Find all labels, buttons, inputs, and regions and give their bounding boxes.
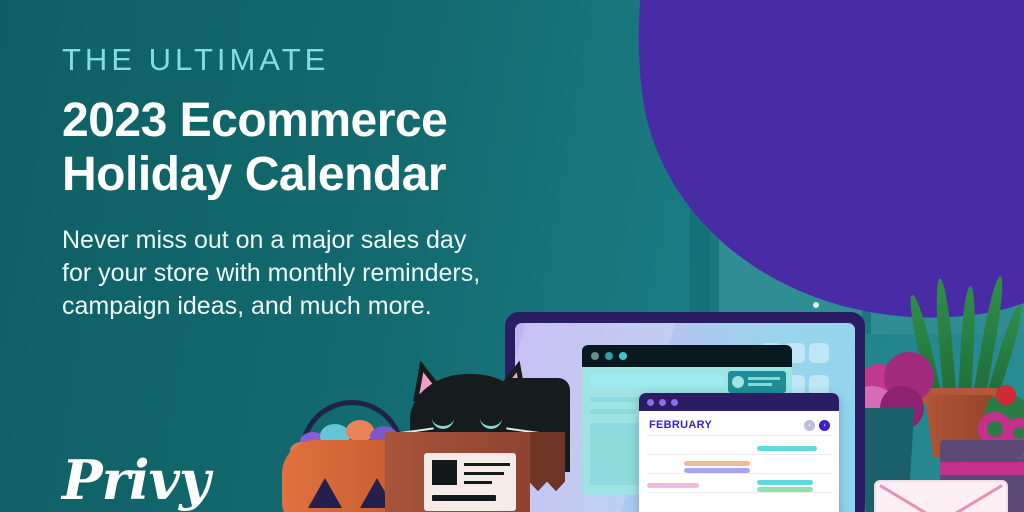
- calendar-cell[interactable]: [721, 455, 758, 473]
- calendar-cell[interactable]: [684, 474, 721, 492]
- window-dot-close[interactable]: [647, 399, 654, 406]
- calendar-cell[interactable]: [647, 474, 684, 492]
- browser-titlebar: [582, 345, 792, 367]
- shipping-label: [424, 453, 516, 511]
- calendar-row: [647, 454, 831, 473]
- barcode-icon: [432, 460, 457, 485]
- calendar-cell[interactable]: [721, 493, 758, 511]
- privy-logo[interactable]: Privy: [62, 448, 209, 512]
- calendar-grid: [639, 435, 839, 511]
- envelope-flap-left: [879, 484, 942, 512]
- promo-banner: ❄ ❄ ❄ ❄ ☆ ☆: [0, 0, 1024, 512]
- window-dot-close: [591, 352, 599, 360]
- calendar-titlebar: [639, 393, 839, 411]
- copy-block: THE ULTIMATE 2023 Ecommerce Holiday Cale…: [62, 0, 582, 323]
- calendar-cell[interactable]: [757, 493, 794, 511]
- calendar-window[interactable]: FEBRUARY ‹ ›: [639, 393, 839, 512]
- snake-plant: [928, 280, 998, 400]
- prev-month-button[interactable]: ‹: [804, 420, 815, 431]
- browser-url-bar[interactable]: [590, 374, 725, 387]
- calendar-cell[interactable]: [721, 474, 758, 492]
- calendar-cell[interactable]: [684, 455, 721, 473]
- cat-eye-left: [432, 418, 454, 429]
- calendar-cell[interactable]: [794, 474, 831, 492]
- calendar-cell[interactable]: [647, 455, 684, 473]
- calendar-cell[interactable]: [757, 455, 794, 473]
- window-dot-minimize[interactable]: [659, 399, 666, 406]
- envelope: [874, 480, 1008, 512]
- calendar-cell[interactable]: [757, 474, 794, 492]
- browser-cta-card[interactable]: [728, 371, 786, 393]
- page-title: 2023 Ecommerce Holiday Calendar: [62, 94, 582, 202]
- calendar-cell[interactable]: [647, 493, 684, 511]
- calendar-row: [647, 435, 831, 454]
- calendar-cell[interactable]: [647, 436, 684, 454]
- envelope-flap-right: [940, 484, 1003, 512]
- cactus-flower: [996, 385, 1016, 405]
- calendar-cell[interactable]: [794, 455, 831, 473]
- headline-line-1: 2023 Ecommerce: [62, 94, 582, 148]
- window-dot-maximize: [619, 352, 627, 360]
- calendar-cell[interactable]: [757, 436, 794, 454]
- window-dot-maximize[interactable]: [671, 399, 678, 406]
- window-dot-minimize: [605, 352, 613, 360]
- subheadline-text: Never miss out on a major sales day for …: [62, 224, 494, 324]
- calendar-row: [647, 473, 831, 492]
- cat-eye-right: [480, 418, 502, 429]
- eyebrow-text: THE ULTIMATE: [62, 42, 582, 78]
- calendar-header: FEBRUARY ‹ ›: [639, 411, 839, 435]
- pumpkin-eye-left: [308, 478, 342, 508]
- calendar-cell[interactable]: [684, 436, 721, 454]
- calendar-cell[interactable]: [684, 493, 721, 511]
- calendar-cell[interactable]: [794, 493, 831, 511]
- gift-ribbon: [940, 462, 1024, 475]
- next-month-button[interactable]: ›: [819, 420, 830, 431]
- calendar-cell[interactable]: [794, 436, 831, 454]
- calendar-row: [647, 492, 831, 511]
- calendar-month-label: FEBRUARY: [649, 419, 712, 431]
- headline-line-2: Holiday Calendar: [62, 148, 582, 202]
- calendar-nav: ‹ ›: [804, 420, 830, 431]
- calendar-cell[interactable]: [721, 436, 758, 454]
